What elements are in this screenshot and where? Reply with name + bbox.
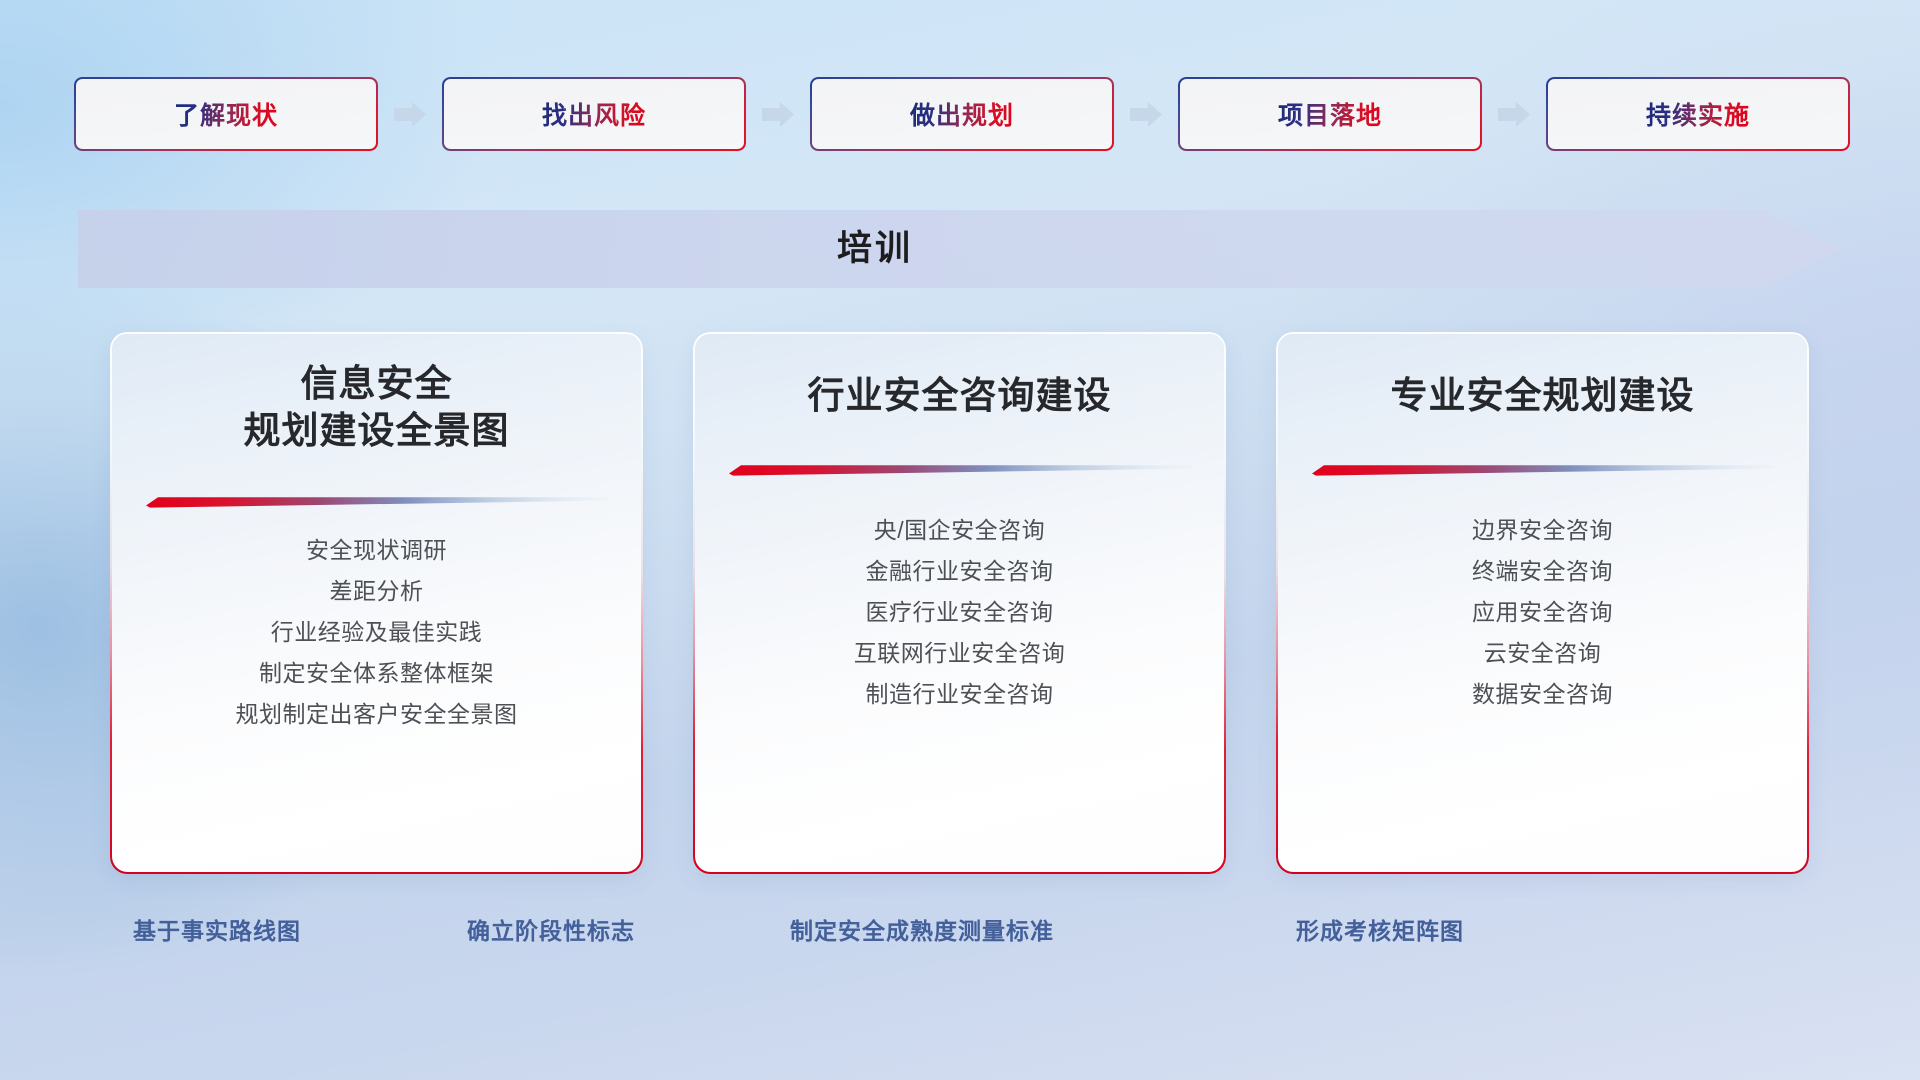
card-list-item[interactable]: 制定安全体系整体框架 [112,653,641,694]
card-list-item[interactable]: 规划制定出客户安全全景图 [112,694,641,735]
card-title: 专业安全规划建设 [1278,372,1807,419]
card-row: 信息安全规划建设全景图安全现状调研差距分析行业经验及最佳实践制定安全体系整体框架… [0,334,1920,879]
process-step-label: 找出风险 [542,96,646,132]
process-step-bar: 了解现状找出风险做出规划项目落地持续实施 [0,0,1920,180]
process-step-4[interactable]: 项目落地 [1180,79,1480,149]
bottom-label-row: 基于事实路线图确立阶段性标志制定安全成熟度测量标准形成考核矩阵图 [0,910,1920,970]
process-step-label: 做出规划 [910,96,1014,132]
training-banner: 培训 [78,210,1842,288]
process-step-label: 项目落地 [1278,96,1382,132]
bottom-label-2: 确立阶段性标志 [467,910,635,952]
step-arrow-icon-4 [1498,102,1530,127]
card-divider [727,462,1192,476]
service-card-2[interactable]: 行业安全咨询建设央/国企安全咨询金融行业安全咨询医疗行业安全咨询互联网行业安全咨… [695,334,1224,872]
service-card-3[interactable]: 专业安全规划建设边界安全咨询终端安全咨询应用安全咨询云安全咨询数据安全咨询 [1278,334,1807,872]
card-list-item[interactable]: 云安全咨询 [1278,633,1807,674]
card-list-item[interactable]: 金融行业安全咨询 [695,551,1224,592]
card-divider [144,494,609,508]
step-arrow-icon-1 [394,102,426,127]
card-list-item[interactable]: 行业经验及最佳实践 [112,612,641,653]
card-list-item[interactable]: 边界安全咨询 [1278,510,1807,551]
process-step-1[interactable]: 了解现状 [76,79,376,149]
process-step-label: 持续实施 [1646,96,1750,132]
process-step-3[interactable]: 做出规划 [812,79,1112,149]
process-step-5[interactable]: 持续实施 [1548,79,1848,149]
card-list-item[interactable]: 数据安全咨询 [1278,674,1807,715]
card-list-item[interactable]: 央/国企安全咨询 [695,510,1224,551]
card-item-list: 安全现状调研差距分析行业经验及最佳实践制定安全体系整体框架规划制定出客户安全全景… [112,530,641,735]
card-title-line: 规划建设全景图 [112,407,641,454]
card-item-list: 边界安全咨询终端安全咨询应用安全咨询云安全咨询数据安全咨询 [1278,510,1807,715]
card-list-item[interactable]: 差距分析 [112,571,641,612]
card-divider [1310,462,1775,476]
bottom-label-1: 基于事实路线图 [133,910,301,952]
card-list-item[interactable]: 安全现状调研 [112,530,641,571]
bottom-label-4: 形成考核矩阵图 [1296,910,1464,952]
card-list-item[interactable]: 制造行业安全咨询 [695,674,1224,715]
step-arrow-icon-3 [1130,102,1162,127]
step-arrow-icon-2 [762,102,794,127]
card-item-list: 央/国企安全咨询金融行业安全咨询医疗行业安全咨询互联网行业安全咨询制造行业安全咨… [695,510,1224,715]
process-step-label: 了解现状 [174,96,278,132]
card-list-item[interactable]: 互联网行业安全咨询 [695,633,1224,674]
card-list-item[interactable]: 医疗行业安全咨询 [695,592,1224,633]
bottom-label-3: 制定安全成熟度测量标准 [790,910,1054,952]
process-step-2[interactable]: 找出风险 [444,79,744,149]
card-list-item[interactable]: 终端安全咨询 [1278,551,1807,592]
banner-title: 培训 [78,210,1842,288]
card-title: 信息安全规划建设全景图 [112,360,641,455]
card-title-line: 专业安全规划建设 [1278,372,1807,419]
card-title-line: 信息安全 [112,360,641,407]
service-card-1[interactable]: 信息安全规划建设全景图安全现状调研差距分析行业经验及最佳实践制定安全体系整体框架… [112,334,641,872]
card-title-line: 行业安全咨询建设 [695,372,1224,419]
card-title: 行业安全咨询建设 [695,372,1224,419]
slide-canvas: 了解现状找出风险做出规划项目落地持续实施 培训 信息安全规划建设全景图安全现状调… [0,0,1920,1080]
card-list-item[interactable]: 应用安全咨询 [1278,592,1807,633]
